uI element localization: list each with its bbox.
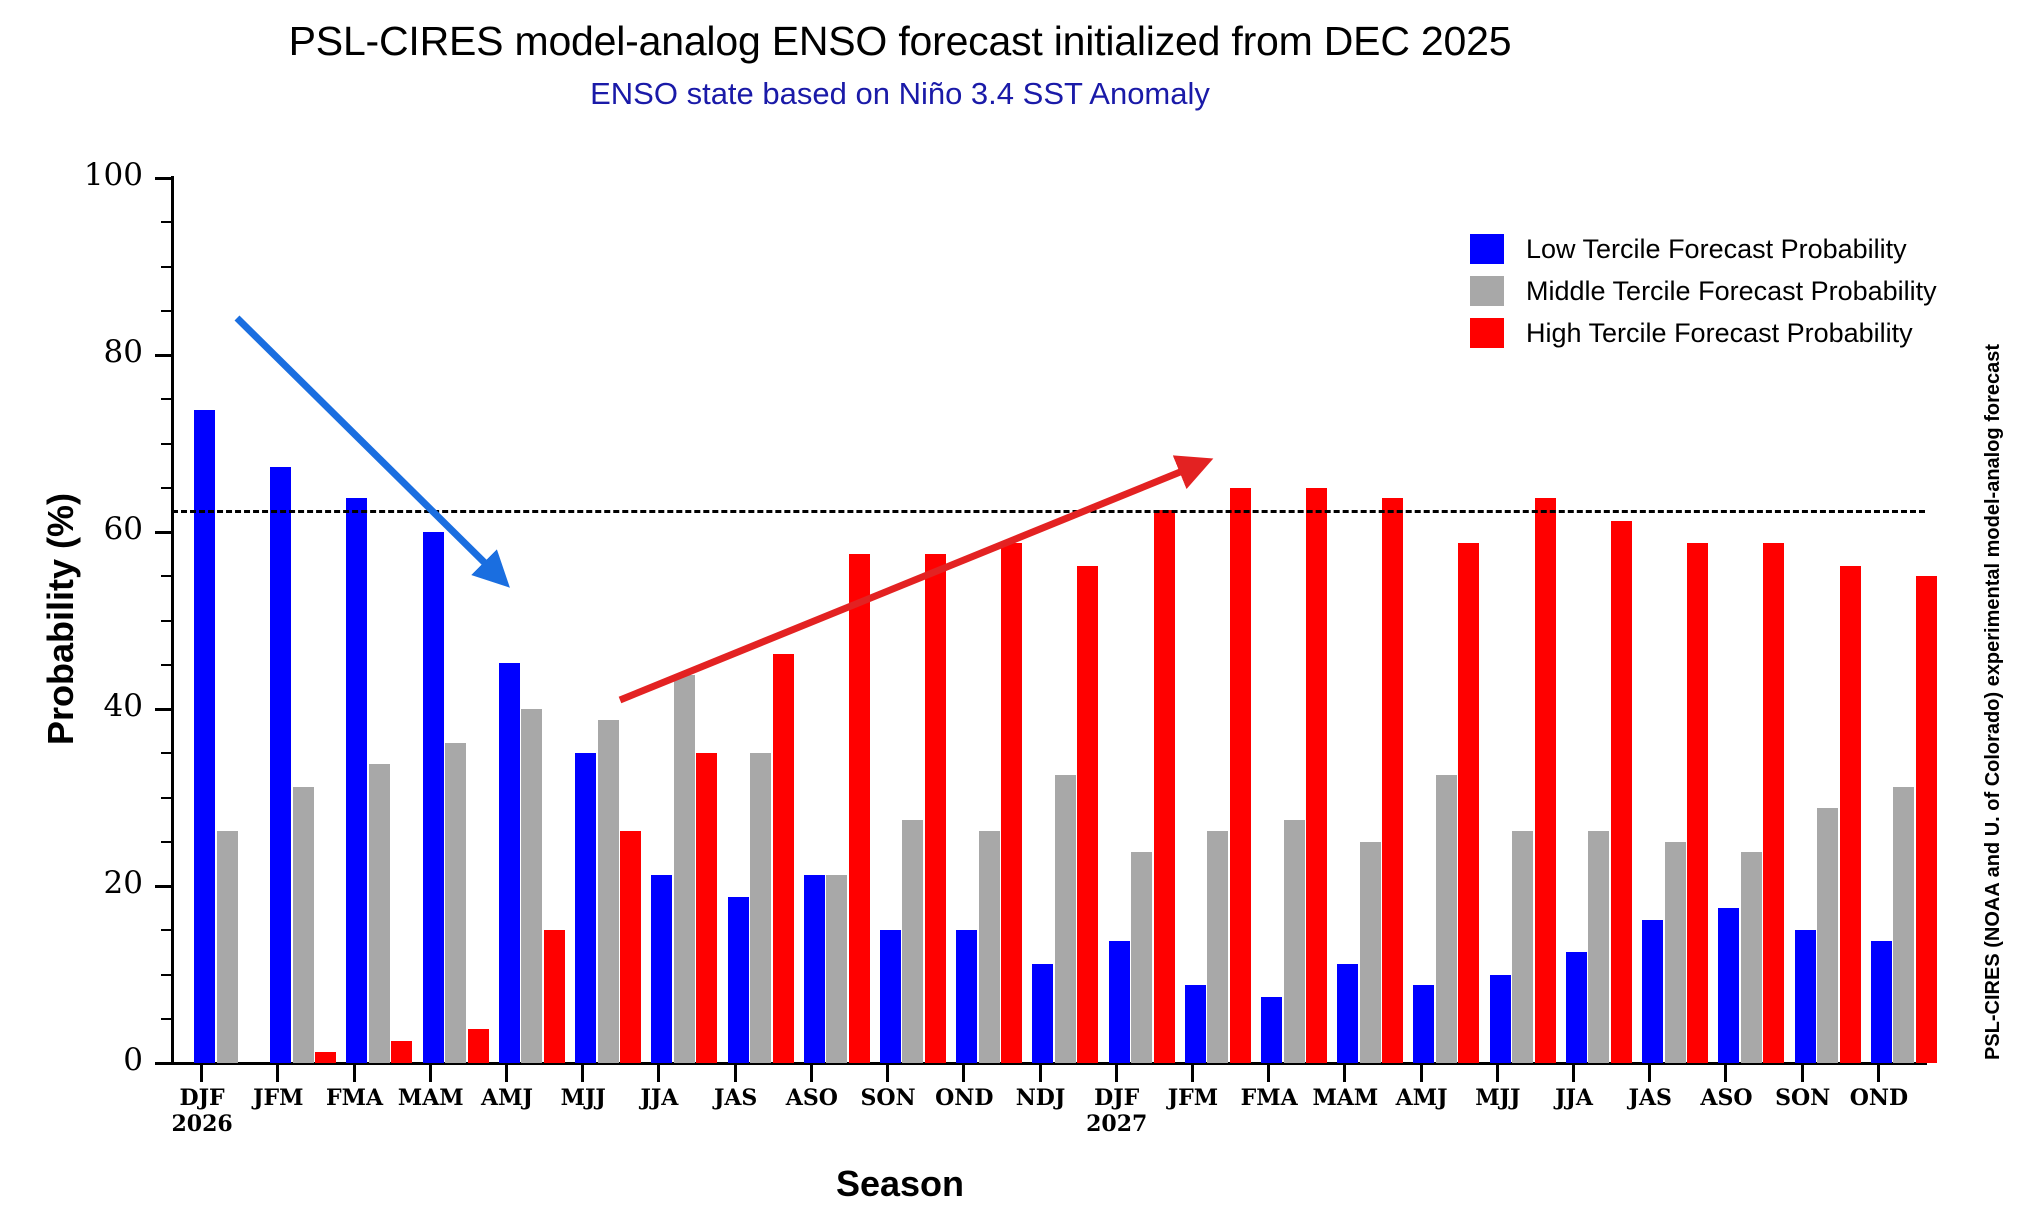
y-axis-tick-major	[155, 177, 172, 180]
x-axis-tick	[429, 1065, 432, 1082]
y-axis-tick-major	[155, 1062, 172, 1065]
bar-mid-tercile	[1817, 808, 1838, 1063]
legend-item-middle[interactable]: Middle Tercile Forecast Probability	[1470, 270, 1937, 312]
x-axis-tick	[353, 1065, 356, 1082]
bar-low-tercile	[1261, 997, 1282, 1063]
y-axis-tick-minor	[161, 266, 172, 268]
y-axis-tick-label: 100	[53, 157, 143, 193]
legend-swatch-high-icon	[1470, 318, 1504, 348]
bar-low-tercile	[575, 753, 596, 1063]
x-axis-tick	[734, 1065, 737, 1082]
x-axis-tick	[1572, 1065, 1575, 1082]
bar-high-tercile	[1916, 576, 1937, 1063]
chart-title: PSL-CIRES model-analog ENSO forecast ini…	[0, 18, 1800, 65]
bar-high-tercile	[1763, 543, 1784, 1063]
x-axis-tick	[276, 1065, 279, 1082]
y-axis-tick-label: 80	[53, 334, 143, 370]
legend-label: Low Tercile Forecast Probability	[1526, 234, 1907, 265]
bar-mid-tercile	[598, 720, 619, 1063]
reference-line	[172, 510, 1925, 513]
y-axis-tick-major	[155, 354, 172, 357]
y-axis-tick-major	[155, 708, 172, 711]
y-axis-tick-minor	[161, 841, 172, 843]
legend-label: High Tercile Forecast Probability	[1526, 318, 1913, 349]
season-year-label: 2027	[1057, 1112, 1177, 1138]
bar-high-tercile	[773, 654, 794, 1063]
x-axis-tick	[962, 1065, 965, 1082]
y-axis-tick-minor	[161, 487, 172, 489]
y-axis-tick-minor	[161, 443, 172, 445]
bar-high-tercile	[620, 831, 641, 1063]
y-axis-tick-major	[155, 885, 172, 888]
bar-high-tercile	[1535, 498, 1556, 1063]
bar-high-tercile	[925, 554, 946, 1063]
legend-item-low[interactable]: Low Tercile Forecast Probability	[1470, 228, 1937, 270]
x-axis-tick	[200, 1065, 203, 1082]
bar-mid-tercile	[1207, 831, 1228, 1063]
bar-high-tercile	[1840, 566, 1861, 1063]
bar-high-tercile	[1077, 566, 1098, 1063]
bar-mid-tercile	[1512, 831, 1533, 1063]
bar-mid-tercile	[1436, 775, 1457, 1063]
x-axis-tick	[1115, 1065, 1118, 1082]
bar-low-tercile	[423, 532, 444, 1063]
x-axis-tick	[1039, 1065, 1042, 1082]
bar-mid-tercile	[1741, 852, 1762, 1063]
bar-mid-tercile	[1588, 831, 1609, 1063]
x-axis-tick	[1801, 1065, 1804, 1082]
x-axis-tick-label: OND	[1819, 1086, 1939, 1112]
y-axis-tick-minor	[161, 221, 172, 223]
bar-low-tercile	[1490, 975, 1511, 1064]
x-axis-tick	[581, 1065, 584, 1082]
legend-item-high[interactable]: High Tercile Forecast Probability	[1470, 312, 1937, 354]
bar-low-tercile	[194, 410, 215, 1063]
bar-high-tercile	[1382, 498, 1403, 1063]
bar-low-tercile	[1337, 964, 1358, 1063]
x-axis-tick	[1343, 1065, 1346, 1082]
legend-swatch-low-icon	[1470, 234, 1504, 264]
bar-low-tercile	[651, 875, 672, 1064]
bar-high-tercile	[468, 1029, 489, 1063]
bar-high-tercile	[696, 753, 717, 1063]
x-axis-tick	[1877, 1065, 1880, 1082]
bar-mid-tercile	[902, 820, 923, 1063]
bar-mid-tercile	[1131, 852, 1152, 1063]
bar-low-tercile	[880, 930, 901, 1063]
chart-legend: Low Tercile Forecast ProbabilityMiddle T…	[1470, 228, 1937, 354]
y-axis-tick-minor	[161, 664, 172, 666]
bar-mid-tercile	[369, 764, 390, 1063]
x-axis-tick	[505, 1065, 508, 1082]
bar-low-tercile	[1032, 964, 1053, 1063]
bar-mid-tercile	[1055, 775, 1076, 1063]
bar-mid-tercile	[979, 831, 1000, 1063]
x-axis-tick	[1420, 1065, 1423, 1082]
bar-low-tercile	[1413, 985, 1434, 1063]
season-year-label: 2026	[142, 1112, 262, 1138]
y-axis-tick-minor	[161, 398, 172, 400]
chart-canvas: PSL-CIRES model-analog ENSO forecast ini…	[0, 0, 2018, 1227]
y-axis-tick-minor	[161, 310, 172, 312]
x-axis-tick	[1191, 1065, 1194, 1082]
legend-label: Middle Tercile Forecast Probability	[1526, 276, 1937, 307]
bar-mid-tercile	[217, 831, 238, 1063]
bar-high-tercile	[391, 1041, 412, 1063]
bar-mid-tercile	[1360, 842, 1381, 1063]
legend-swatch-middle-icon	[1470, 276, 1504, 306]
bar-low-tercile	[1566, 952, 1587, 1063]
bar-low-tercile	[346, 498, 367, 1063]
bar-high-tercile	[315, 1052, 336, 1063]
y-axis-tick-label: 0	[53, 1042, 143, 1078]
x-axis-tick	[657, 1065, 660, 1082]
bar-low-tercile	[1871, 941, 1892, 1063]
bar-high-tercile	[849, 554, 870, 1063]
y-axis-tick-minor	[161, 752, 172, 754]
y-axis-tick-minor	[161, 974, 172, 976]
y-axis-tick-minor	[161, 929, 172, 931]
y-axis-tick-minor	[161, 620, 172, 622]
x-axis-tick	[1496, 1065, 1499, 1082]
bar-mid-tercile	[674, 675, 695, 1063]
chart-subtitle: ENSO state based on Niño 3.4 SST Anomaly	[0, 76, 1800, 112]
bar-low-tercile	[1718, 908, 1739, 1063]
bar-mid-tercile	[1893, 787, 1914, 1063]
x-axis-tick	[810, 1065, 813, 1082]
bar-mid-tercile	[293, 787, 314, 1063]
bar-high-tercile	[544, 930, 565, 1063]
bar-mid-tercile	[1665, 842, 1686, 1063]
x-axis-tick	[886, 1065, 889, 1082]
y-axis-tick-major	[155, 531, 172, 534]
y-axis-tick-minor	[161, 797, 172, 799]
bar-low-tercile	[1795, 930, 1816, 1063]
bar-low-tercile	[1185, 985, 1206, 1063]
bar-mid-tercile	[1284, 820, 1305, 1063]
bar-low-tercile	[728, 897, 749, 1063]
bar-low-tercile	[1642, 920, 1663, 1063]
y-axis-tick-minor	[161, 1018, 172, 1020]
x-axis-tick	[1648, 1065, 1651, 1082]
bar-low-tercile	[804, 875, 825, 1063]
bar-high-tercile	[1458, 543, 1479, 1063]
bar-low-tercile	[956, 930, 977, 1063]
bar-high-tercile	[1230, 488, 1251, 1063]
bar-mid-tercile	[826, 875, 847, 1063]
credit-label: PSL-CIRES (NOAA and U. of Colorado) expe…	[1982, 344, 2005, 1060]
x-axis-tick	[1267, 1065, 1270, 1082]
bar-high-tercile	[1001, 543, 1022, 1063]
bar-low-tercile	[270, 467, 291, 1063]
bar-high-tercile	[1687, 543, 1708, 1063]
x-axis-tick	[1724, 1065, 1727, 1082]
bar-mid-tercile	[445, 743, 466, 1063]
x-axis-title: Season	[0, 1163, 1800, 1205]
y-axis-title: Probability (%)	[40, 493, 82, 745]
bar-high-tercile	[1611, 521, 1632, 1063]
bar-high-tercile	[1306, 488, 1327, 1063]
y-axis-tick-minor	[161, 575, 172, 577]
bar-mid-tercile	[521, 709, 542, 1063]
bar-high-tercile	[1154, 510, 1175, 1063]
bar-low-tercile	[499, 663, 520, 1063]
bar-mid-tercile	[750, 753, 771, 1063]
y-axis-tick-label: 20	[53, 865, 143, 901]
bar-low-tercile	[1109, 941, 1130, 1063]
season-label: OND	[1819, 1086, 1939, 1112]
